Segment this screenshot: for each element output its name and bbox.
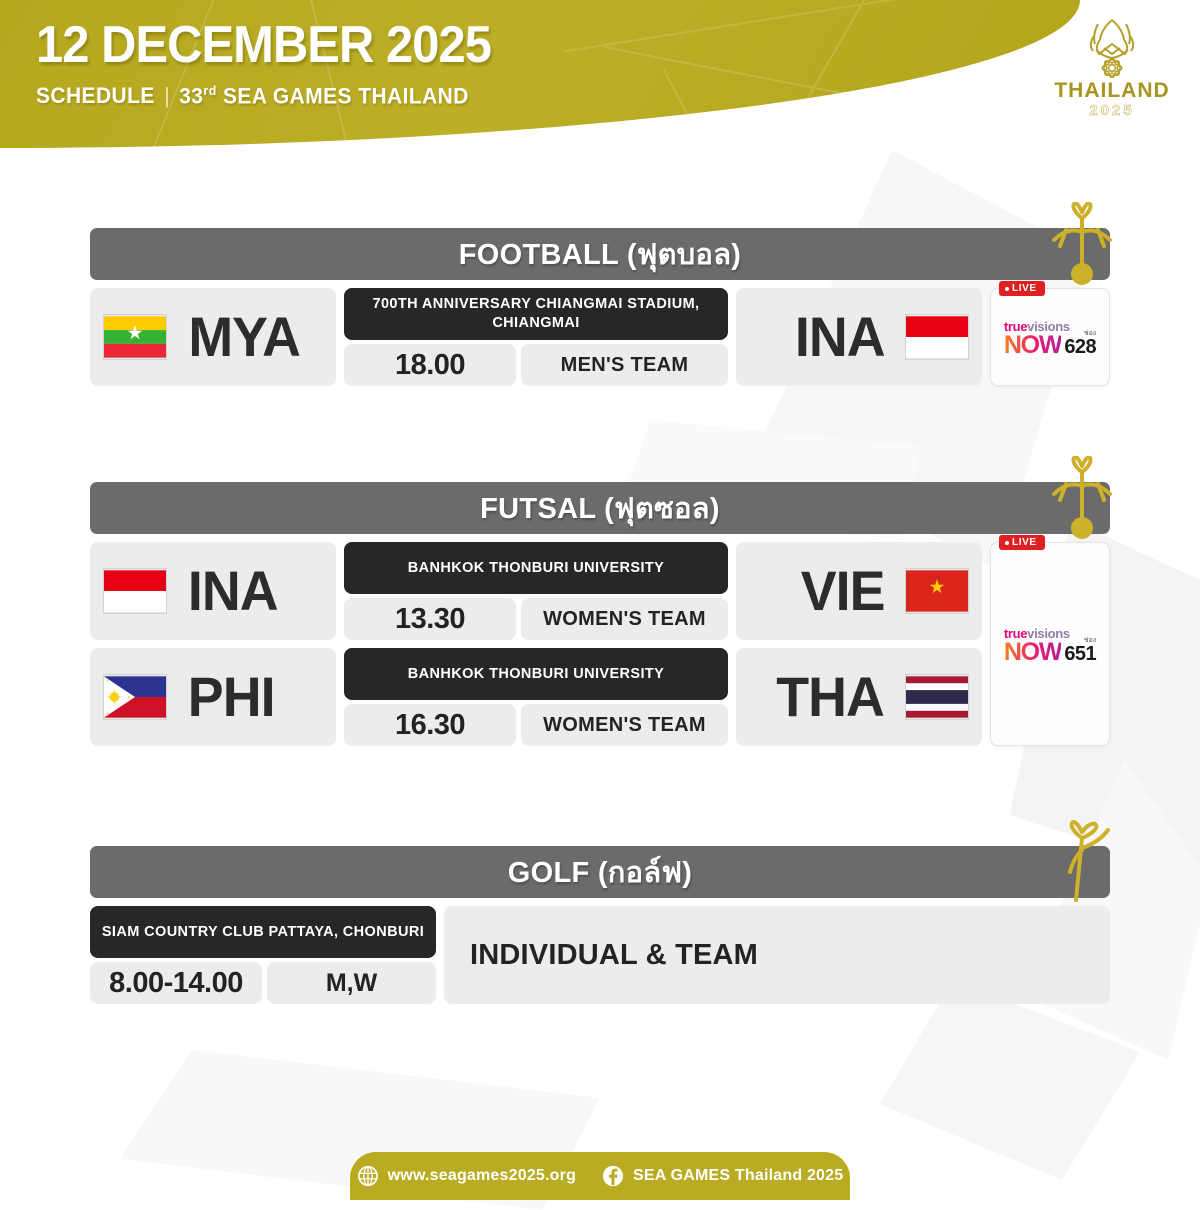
- match-rows-football: MYA 700TH ANNIVERSARY CHIANGMAI STADIUM,…: [90, 288, 1110, 386]
- match-category: MEN'S TEAM: [521, 344, 728, 386]
- match-time: 16.30: [344, 704, 516, 746]
- away-team-code: INA: [794, 309, 884, 365]
- section-title: GOLF (กอล์ฟ): [508, 849, 693, 895]
- page-title: 12 DECEMBER 2025: [36, 18, 491, 73]
- live-dot-icon: [1005, 287, 1009, 291]
- channel-label: ช่อง: [1084, 635, 1096, 646]
- away-team-code: VIE: [800, 563, 884, 619]
- match-category: WOMEN'S TEAM: [521, 598, 728, 640]
- channel-number: 651: [1064, 643, 1096, 665]
- header-subtitle: SCHEDULE | 33rd SEA GAMES THAILAND: [36, 83, 496, 109]
- venue-label: BANHKOK THONBURI UNIVERSITY: [344, 542, 728, 594]
- flag-myanmar-icon: [104, 315, 166, 359]
- mascot-ball: [1071, 263, 1093, 285]
- flag-indonesia-icon: [906, 315, 968, 359]
- website-link[interactable]: www.seagames2025.org: [357, 1165, 576, 1187]
- thailand-2025-logo: THAILAND 2025: [1052, 14, 1172, 121]
- match-info-cell: BANHKOK THONBURI UNIVERSITY 16.30 WOMEN'…: [344, 648, 728, 746]
- table-row: SIAM COUNTRY CLUB PATTAYA, CHONBURI 8.00…: [90, 906, 1110, 1004]
- section-title: FOOTBALL (ฟุตบอล): [459, 231, 741, 277]
- venue-label: SIAM COUNTRY CLUB PATTAYA, CHONBURI: [90, 906, 436, 958]
- mascot-icon: [1046, 820, 1118, 906]
- live-badge: LIVE: [999, 535, 1045, 550]
- logo-country-label: THAILAND: [1052, 80, 1172, 101]
- table-row: INA BANHKOK THONBURI UNIVERSITY 13.30 WO…: [90, 542, 1110, 640]
- match-info-cell: BANHKOK THONBURI UNIVERSITY 13.30 WOMEN'…: [344, 542, 728, 640]
- golf-info-cell: SIAM COUNTRY CLUB PATTAYA, CHONBURI 8.00…: [90, 906, 436, 1004]
- match-info-cell: 700TH ANNIVERSARY CHIANGMAI STADIUM, CHI…: [344, 288, 728, 386]
- subtitle-separator: |: [164, 83, 169, 109]
- venue-label: 700TH ANNIVERSARY CHIANGMAI STADIUM, CHI…: [344, 288, 728, 340]
- event-name: SEA GAMES THAILAND: [223, 83, 469, 108]
- home-team-code: MYA: [188, 309, 300, 365]
- away-team-cell: INA: [736, 288, 982, 386]
- home-team-cell: PHI: [90, 648, 336, 746]
- section-football: FOOTBALL (ฟุตบอล): [90, 228, 1110, 386]
- page-header: 12 DECEMBER 2025 SCHEDULE | 33rd SEA GAM…: [0, 0, 1080, 148]
- section-header-football: FOOTBALL (ฟุตบอล): [90, 228, 1110, 280]
- broadcast-card-futsal[interactable]: LIVE truevisions NOW ช่อง 651: [990, 542, 1110, 746]
- event-category: M,W: [267, 962, 436, 1004]
- home-team-code: INA: [188, 563, 278, 619]
- away-team-cell: VIE: [736, 542, 982, 640]
- page-footer: www.seagames2025.org SEA GAMES Thailand …: [350, 1152, 850, 1200]
- flag-thailand-icon: [906, 675, 968, 719]
- truevisions-now-logo: truevisions NOW ช่อง 651: [1004, 623, 1096, 665]
- match-rows-futsal: INA BANHKOK THONBURI UNIVERSITY 13.30 WO…: [90, 542, 1110, 746]
- section-title: FUTSAL (ฟุตซอล): [480, 485, 720, 531]
- thai-ornament-icon: [1074, 14, 1150, 78]
- truevisions-now-logo: truevisions NOW ช่อง 628: [1004, 316, 1096, 358]
- edition-ordinal-suffix: rd: [203, 83, 216, 98]
- globe-icon: [357, 1165, 379, 1187]
- live-badge: LIVE: [999, 281, 1045, 296]
- tv-brand-now: NOW: [1004, 641, 1062, 665]
- facebook-icon: [602, 1165, 624, 1187]
- channel-number: 628: [1064, 336, 1096, 358]
- match-time: 18.00: [344, 344, 516, 386]
- flag-vietnam-icon: [906, 569, 968, 613]
- match-time: 13.30: [344, 598, 516, 640]
- live-dot-icon: [1005, 541, 1009, 545]
- facebook-link[interactable]: SEA GAMES Thailand 2025: [602, 1165, 843, 1187]
- section-header-futsal: FUTSAL (ฟุตซอล): [90, 482, 1110, 534]
- edition-number: 33rd SEA GAMES THAILAND: [179, 83, 469, 109]
- channel-label: ช่อง: [1084, 328, 1096, 339]
- broadcast-card-football[interactable]: LIVE truevisions NOW ช่อง 628: [990, 288, 1110, 386]
- website-url: www.seagames2025.org: [388, 1167, 576, 1185]
- mascot-icon: [1046, 456, 1118, 542]
- home-team-code: PHI: [188, 669, 275, 725]
- event-time: 8.00-14.00: [90, 962, 262, 1004]
- section-futsal: FUTSAL (ฟุตซอล): [90, 482, 1110, 746]
- table-row: PHI BANHKOK THONBURI UNIVERSITY 16.30 WO…: [90, 648, 1110, 746]
- flag-philippines-icon: [104, 675, 166, 719]
- schedule-label: SCHEDULE: [36, 83, 155, 109]
- facebook-page-name: SEA GAMES Thailand 2025: [633, 1167, 843, 1185]
- section-golf: GOLF (กอล์ฟ) SIAM COUNTRY CLUB PATTAYA, …: [90, 846, 1110, 1004]
- home-team-cell: MYA: [90, 288, 336, 386]
- match-category: WOMEN'S TEAM: [521, 704, 728, 746]
- logo-year-label: 2025: [1052, 101, 1172, 121]
- away-team-code: THA: [776, 669, 884, 725]
- tv-brand-now: NOW: [1004, 334, 1062, 358]
- flag-indonesia-icon: [104, 569, 166, 613]
- home-team-cell: INA: [90, 542, 336, 640]
- mascot-icon: [1046, 202, 1118, 288]
- away-team-cell: THA: [736, 648, 982, 746]
- mascot-ball: [1071, 517, 1093, 539]
- live-label: LIVE: [1012, 537, 1037, 548]
- table-row: MYA 700TH ANNIVERSARY CHIANGMAI STADIUM,…: [90, 288, 1110, 386]
- golf-rows: SIAM COUNTRY CLUB PATTAYA, CHONBURI 8.00…: [90, 906, 1110, 1004]
- schedule-content: FOOTBALL (ฟุตบอล): [0, 150, 1200, 1004]
- venue-label: BANHKOK THONBURI UNIVERSITY: [344, 648, 728, 700]
- event-name-cell: INDIVIDUAL & TEAM: [444, 906, 1110, 1004]
- section-header-golf: GOLF (กอล์ฟ): [90, 846, 1110, 898]
- live-label: LIVE: [1012, 283, 1037, 294]
